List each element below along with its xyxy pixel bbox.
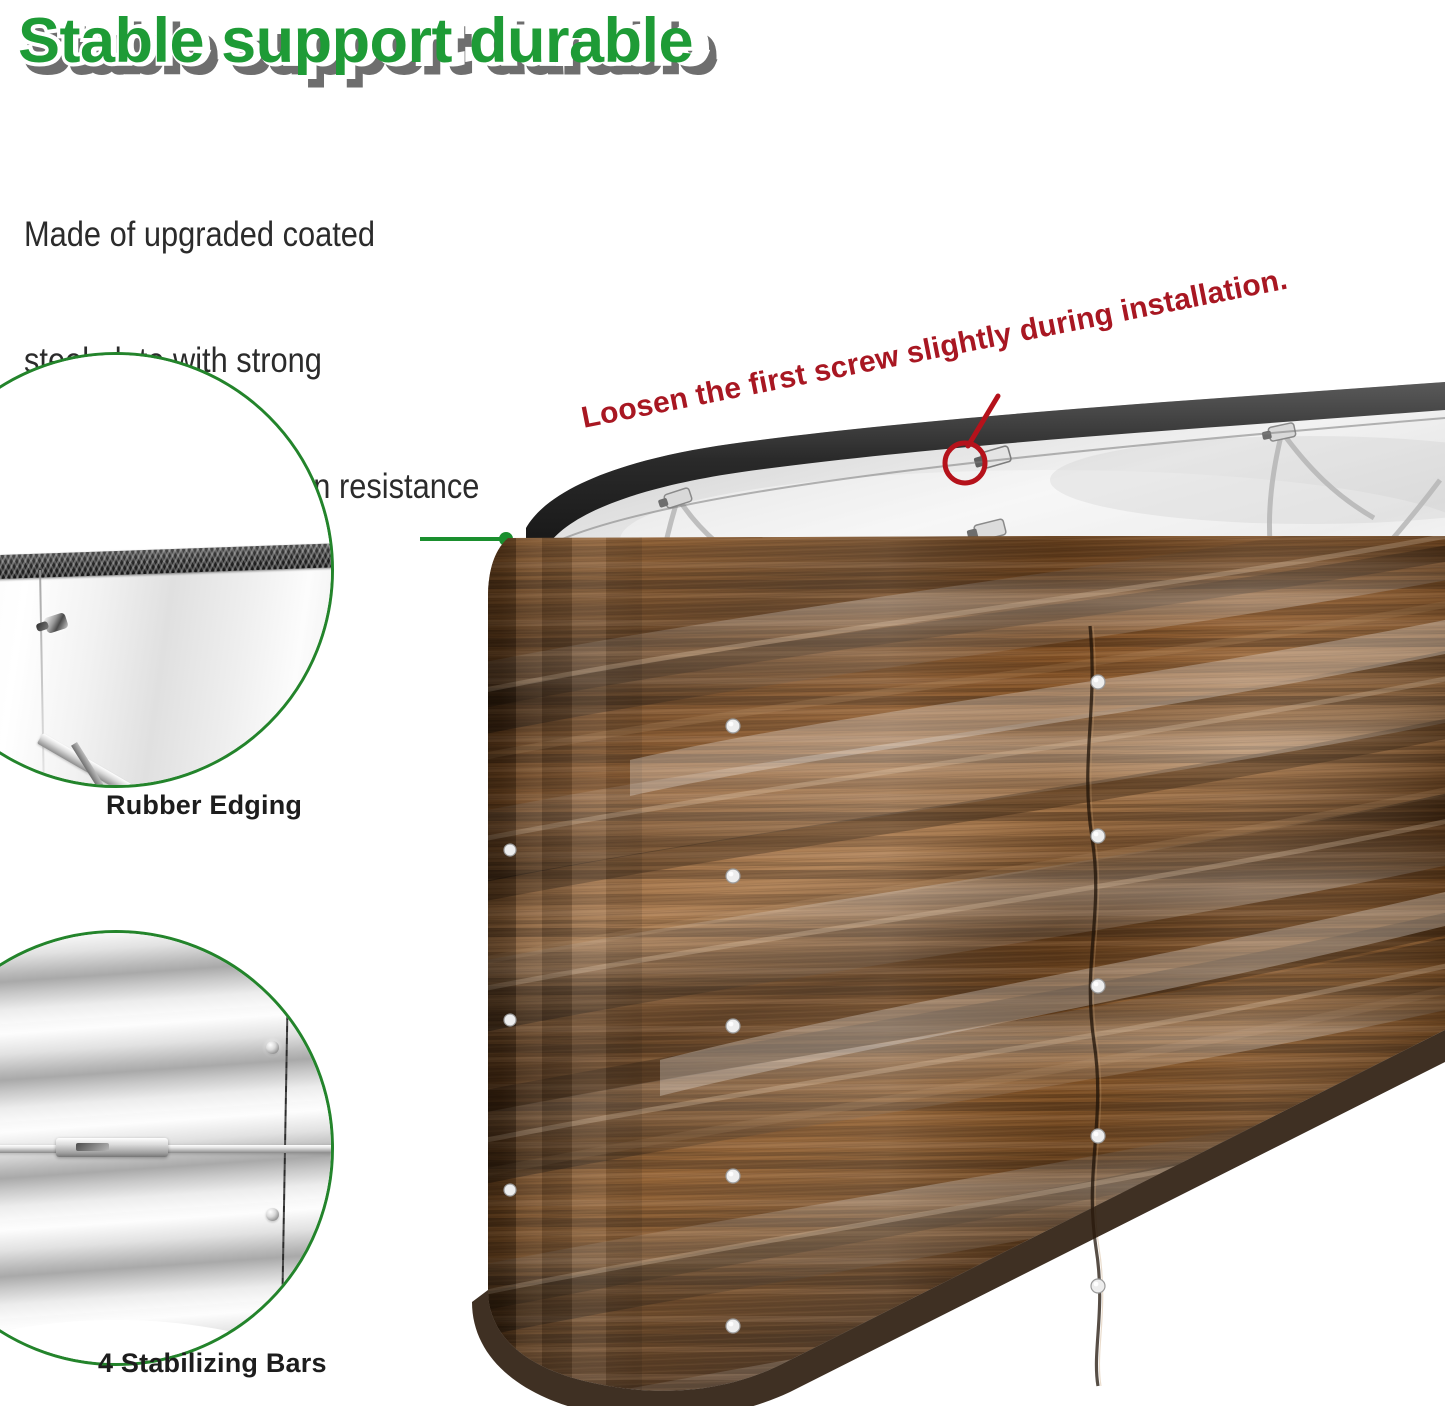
steel-panel [0,562,334,788]
panel-screw-icon [266,1208,279,1221]
page-title-fill: Stable support durable [18,6,693,76]
page-title: Stable support durable Stable support du… [18,4,693,78]
annotation-loosen-first-screw: Loosen the first screw slightly during i… [560,300,1420,490]
callout-rubber-edging [0,330,470,850]
stabilizing-bars-photo [0,933,331,1363]
callout-label-stabilizing-bars: 4 Stabilizing Bars [98,1348,327,1379]
photo-background [0,355,331,557]
callout-label-rubber-edging: Rubber Edging [106,790,302,821]
annotation-target-circle [945,443,985,483]
stabilizing-bars-circle [0,930,334,1366]
annotation-marker [920,390,1080,500]
rubber-edging-circle [0,352,334,788]
headline-block: Stable support durable Stable support du… [0,0,1445,300]
callout-stabilizing-bars [0,930,470,1406]
annotation-leader-line [968,396,998,446]
rubber-edging-photo [0,355,331,785]
bar-turnbuckle-coupler [56,1138,168,1157]
subtitle-line-1: Made of upgraded coated [24,214,479,256]
panel-screw-icon [266,1041,279,1054]
